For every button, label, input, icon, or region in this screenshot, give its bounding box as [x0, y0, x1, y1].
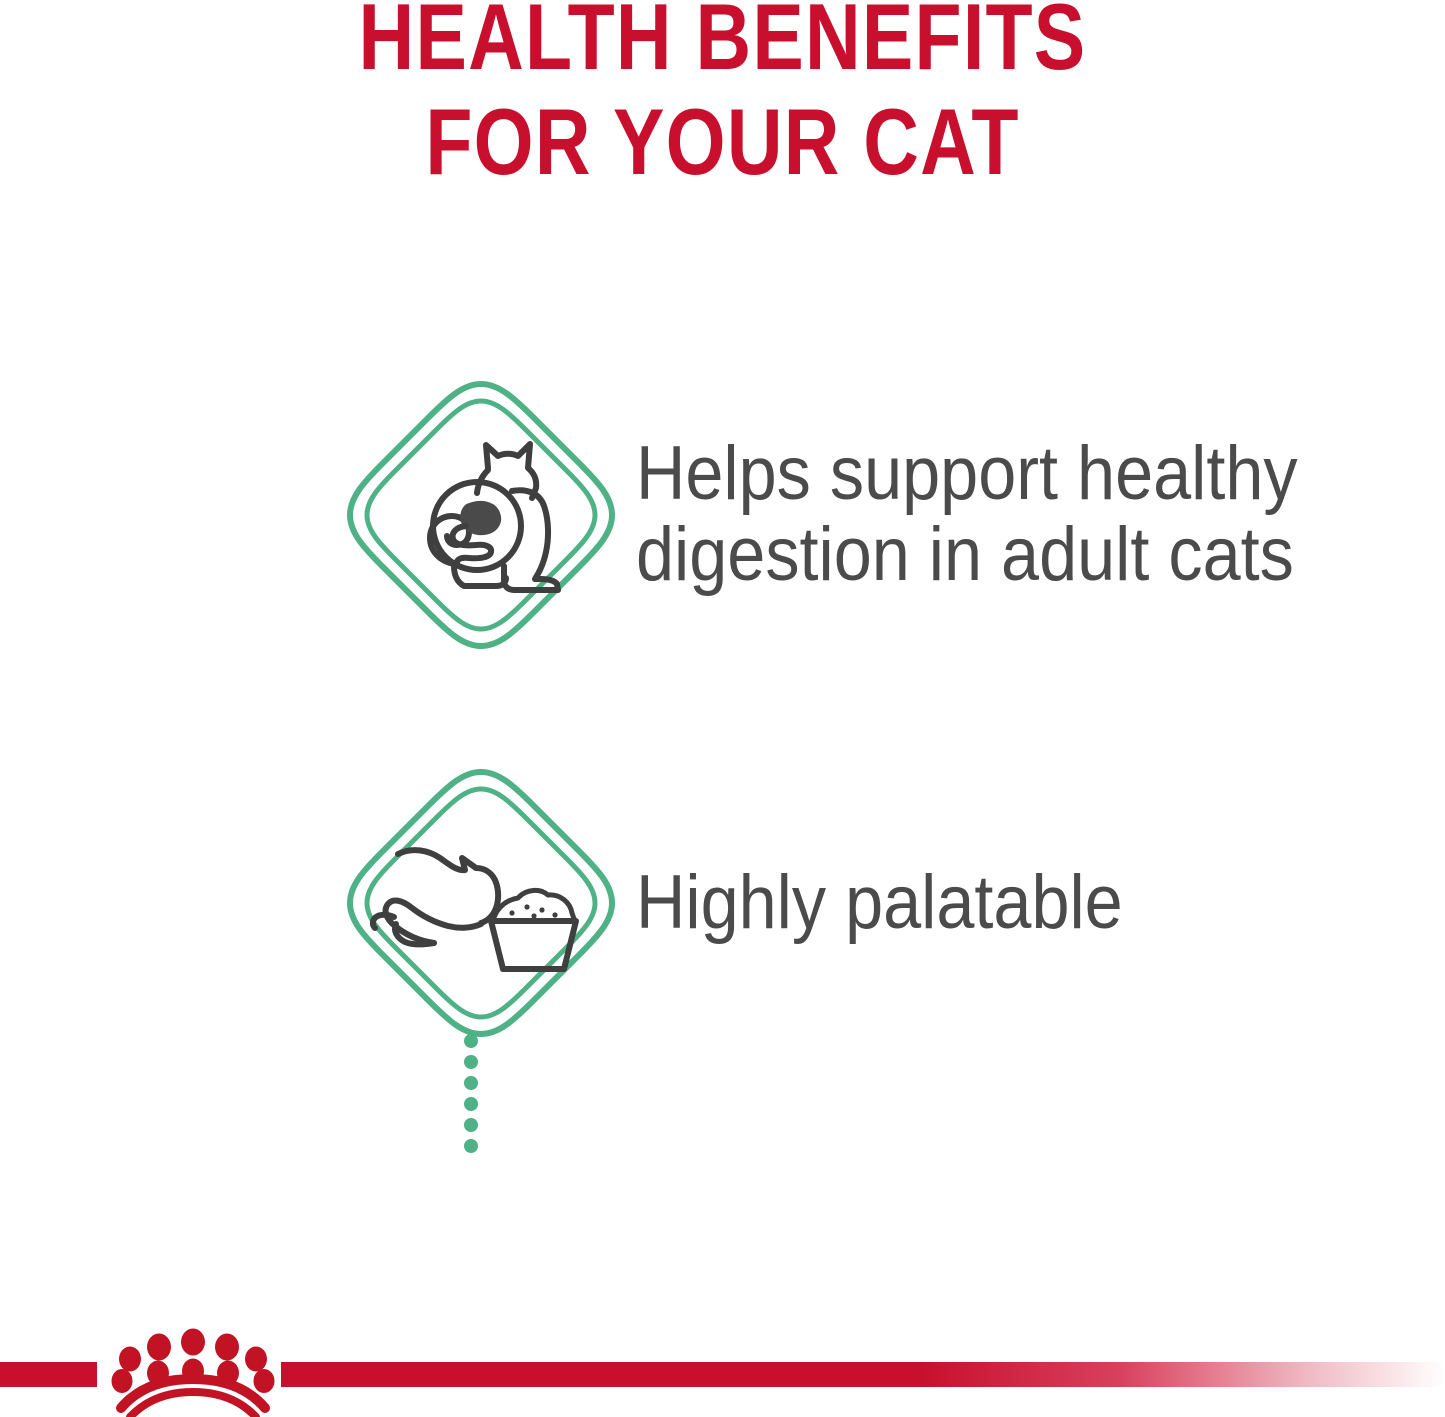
benefit-item-palatability: Highly palatable — [336, 758, 1445, 1048]
connector-dot — [464, 1055, 478, 1069]
connector-dot — [464, 1097, 478, 1111]
footer-brand-bar — [0, 1320, 1445, 1417]
dotted-connector — [464, 1034, 480, 1154]
footer-bar-left — [0, 1362, 97, 1387]
benefit-text-digestion: Helps support healthy digestion in adult… — [636, 434, 1392, 595]
page-title-line-2: FOR YOUR CAT — [130, 97, 1315, 186]
benefit-item-digestion: Helps support healthy digestion in adult… — [336, 370, 1445, 660]
cat-digestion-badge-icon — [336, 370, 626, 660]
royal-canin-crown-logo — [108, 1326, 278, 1417]
connector-dot — [464, 1076, 478, 1090]
page-title: HEALTH BENEFITS FOR YOUR CAT — [0, 0, 1445, 187]
connector-dot — [464, 1139, 478, 1153]
connector-dot — [464, 1034, 478, 1048]
footer-bar-right — [281, 1362, 1445, 1387]
page-title-line-1: HEALTH BENEFITS — [130, 0, 1315, 81]
benefit-text-palatability: Highly palatable — [636, 863, 1392, 944]
benefits-list: Helps support healthy digestion in adult… — [0, 370, 1445, 1060]
cat-eating-bowl-badge-icon — [336, 758, 626, 1048]
connector-dot — [464, 1118, 478, 1132]
